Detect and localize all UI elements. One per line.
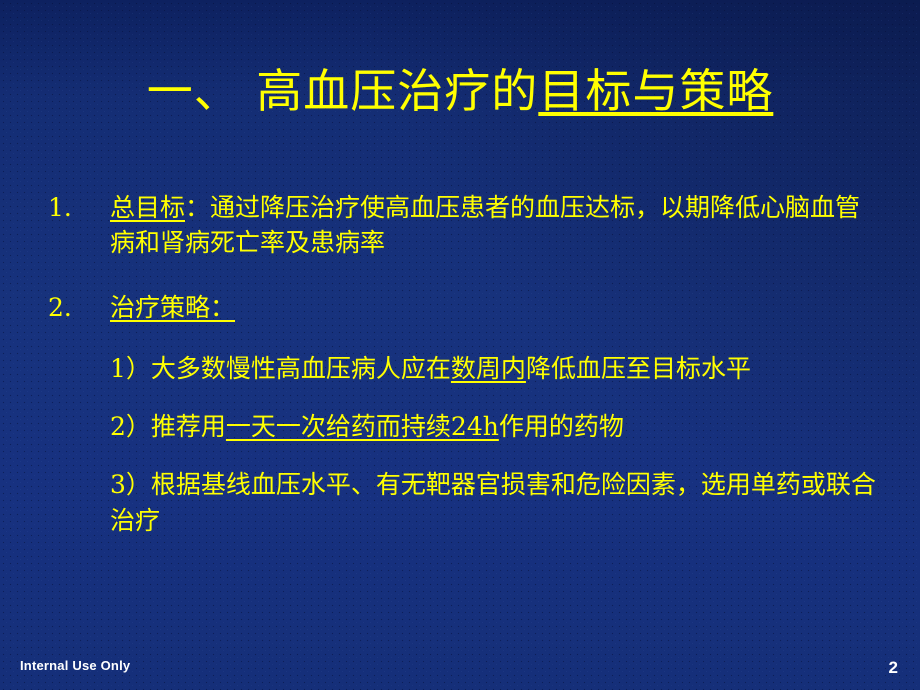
- sub-list-item-1-post: 降低血压至目标水平: [526, 354, 751, 383]
- sub-list-item-2-pre: 推荐用: [151, 412, 226, 441]
- list-item-2: 2.治疗策略：: [46, 290, 884, 325]
- sub-list-item-1: 1）大多数慢性高血压病人应在数周内降低血压至目标水平: [46, 351, 884, 387]
- list-item-2-marker: 2.: [48, 290, 72, 325]
- sub-list-item-2-underlined: 一天一次给药而持续24h: [226, 412, 499, 441]
- slide-title: 一、 高血压治疗的目标与策略: [0, 62, 920, 120]
- slide-body: 1.总目标：通过降压治疗使高血压患者的血压达标，以期降低心脑血管病和肾病死亡率及…: [46, 190, 884, 561]
- title-plain-part: 一、 高血压治疗的: [147, 64, 539, 118]
- slide-content: 一、 高血压治疗的目标与策略 1.总目标：通过降压治疗使高血压患者的血压达标，以…: [0, 0, 920, 690]
- footer-confidentiality-label: Internal Use Only: [20, 658, 130, 673]
- sub-list-item-3: 3）根据基线血压水平、有无靶器官损害和危险因素，选用单药或联合治疗: [46, 467, 884, 539]
- sub-list-item-3-pre: 根据基线血压水平、有无靶器官损害和危险因素，选用单药或联合治疗: [110, 470, 876, 535]
- sub-list-item-2-marker: 2）: [110, 412, 151, 441]
- list-item-2-underlined-lead: 治疗策略：: [110, 293, 235, 322]
- sub-list-item-1-marker: 1）: [110, 354, 151, 383]
- sub-list-item-2-post: 作用的药物: [499, 412, 624, 441]
- title-underlined-part: 目标与策略: [538, 64, 773, 118]
- list-item-1-marker: 1.: [48, 190, 72, 225]
- list-item-1-text: ：通过降压治疗使高血压患者的血压达标，以期降低心脑血管病和肾病死亡率及患病率: [110, 193, 860, 257]
- presentation-slide: 一、 高血压治疗的目标与策略 1.总目标：通过降压治疗使高血压患者的血压达标，以…: [0, 0, 920, 690]
- sub-list-item-3-marker: 3）: [110, 470, 151, 499]
- sub-list-item-1-pre: 大多数慢性高血压病人应在: [151, 354, 451, 383]
- sub-list-item-2: 2）推荐用一天一次给药而持续24h作用的药物: [46, 409, 884, 445]
- list-item-1: 1.总目标：通过降压治疗使高血压患者的血压达标，以期降低心脑血管病和肾病死亡率及…: [46, 190, 884, 260]
- list-item-1-underlined-lead: 总目标: [110, 193, 185, 222]
- slide-page-number: 2: [889, 658, 898, 678]
- sub-list-item-1-underlined: 数周内: [451, 354, 526, 383]
